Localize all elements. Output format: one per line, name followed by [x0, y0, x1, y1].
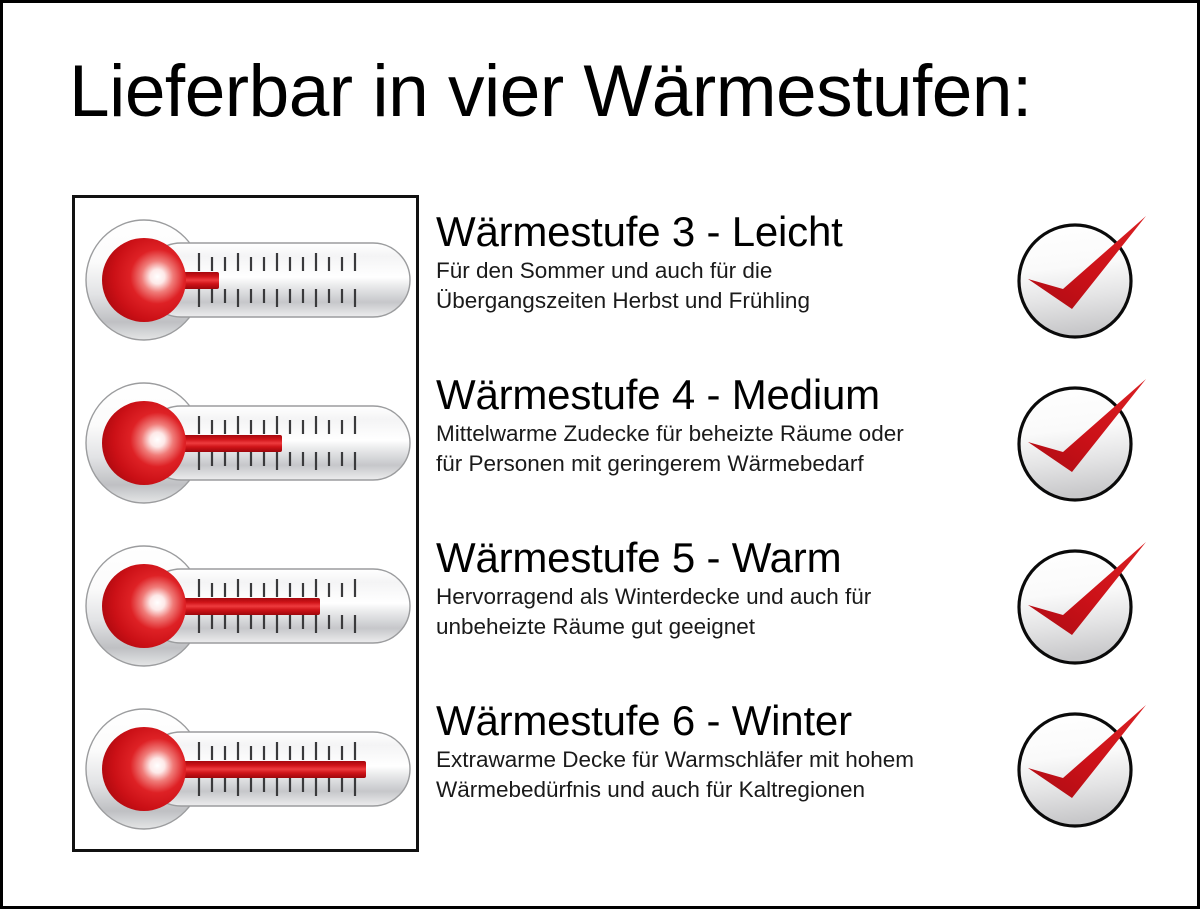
level-text: Wärmestufe 3 - Leicht Für den Sommer und…	[436, 209, 981, 315]
level-desc-line1: Extrawarme Decke für Warmschläfer mit ho…	[436, 745, 981, 774]
infographic-page: Lieferbar in vier Wärmestufen:	[0, 0, 1200, 909]
level-desc-line2: Übergangszeiten Herbst und Frühling	[436, 286, 981, 315]
check-circle-icon	[1003, 529, 1163, 679]
level-text: Wärmestufe 6 - Winter Extrawarme Decke f…	[436, 698, 981, 804]
thermometer-icon	[81, 378, 411, 508]
level-desc-line1: Mittelwarme Zudecke für beheizte Räume o…	[436, 419, 981, 448]
level-row: Wärmestufe 3 - Leicht Für den Sommer und…	[3, 201, 1200, 361]
level-desc-line2: unbeheizte Räume gut geeignet	[436, 612, 981, 641]
level-row: Wärmestufe 6 - Winter Extrawarme Decke f…	[3, 690, 1200, 850]
thermometer-icon	[81, 215, 411, 345]
level-desc-line1: Für den Sommer und auch für die	[436, 256, 981, 285]
level-title: Wärmestufe 5 - Warm	[436, 535, 981, 580]
level-title: Wärmestufe 4 - Medium	[436, 372, 981, 417]
level-text: Wärmestufe 4 - Medium Mittelwarme Zudeck…	[436, 372, 981, 478]
level-desc-line2: für Personen mit geringerem Wärmebedarf	[436, 449, 981, 478]
level-desc-line1: Hervorragend als Winterdecke und auch fü…	[436, 582, 981, 611]
check-circle-icon	[1003, 203, 1163, 353]
level-text: Wärmestufe 5 - Warm Hervorragend als Win…	[436, 535, 981, 641]
thermometer-icon	[81, 541, 411, 671]
check-circle-icon	[1003, 692, 1163, 842]
page-title: Lieferbar in vier Wärmestufen:	[69, 55, 1032, 128]
level-desc-line2: Wärmebedürfnis und auch für Kaltregionen	[436, 775, 981, 804]
thermometer-icon	[81, 704, 411, 834]
level-row: Wärmestufe 4 - Medium Mittelwarme Zudeck…	[3, 364, 1200, 524]
level-title: Wärmestufe 3 - Leicht	[436, 209, 981, 254]
level-title: Wärmestufe 6 - Winter	[436, 698, 981, 743]
level-row: Wärmestufe 5 - Warm Hervorragend als Win…	[3, 527, 1200, 687]
check-circle-icon	[1003, 366, 1163, 516]
